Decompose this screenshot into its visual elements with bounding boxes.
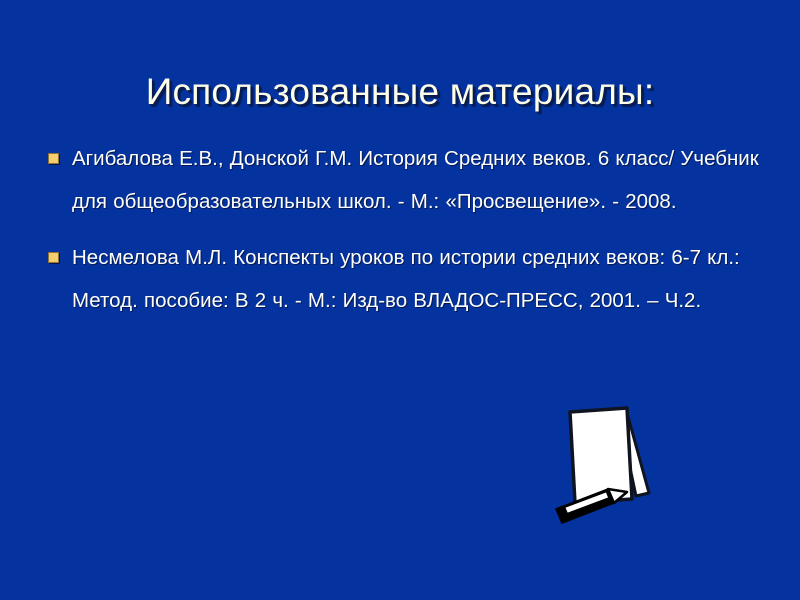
references-list: Агибалова Е.В., Донской Г.М. История Сре… — [40, 138, 766, 336]
notepad-front-page — [570, 408, 632, 503]
list-item-text: Несмелова М.Л. Конспекты уроков по истор… — [72, 237, 766, 322]
page-title: Использованные материалы: — [0, 69, 800, 115]
slide: Использованные материалы: Агибалова Е.В.… — [0, 0, 800, 600]
notepad-and-pencil-icon — [548, 396, 688, 536]
square-bullet-icon — [48, 153, 59, 164]
notepad-and-pencil-illustration — [548, 396, 688, 536]
list-item: Агибалова Е.В., Донской Г.М. История Сре… — [40, 138, 766, 223]
list-item-text: Агибалова Е.В., Донской Г.М. История Сре… — [72, 138, 766, 223]
square-bullet-icon — [48, 252, 59, 263]
list-item: Несмелова М.Л. Конспекты уроков по истор… — [40, 237, 766, 322]
